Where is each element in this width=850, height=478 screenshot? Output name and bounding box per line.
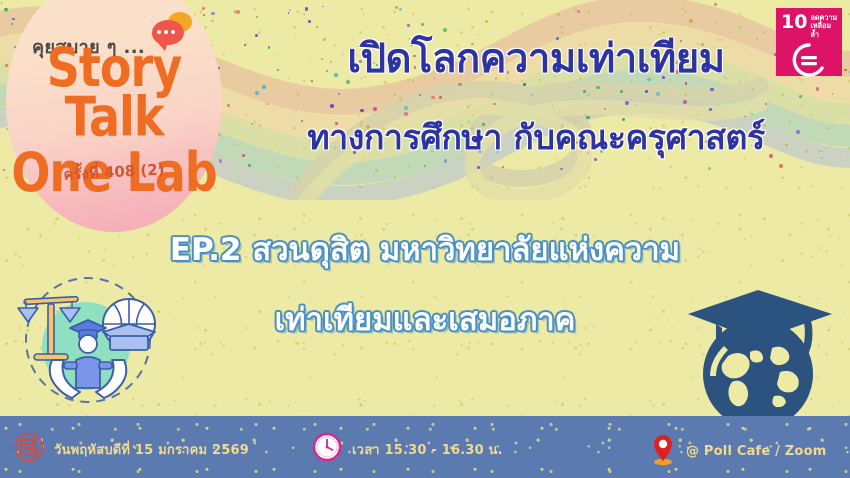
location-pin-icon: [650, 432, 676, 471]
footer-item-date: วันพฤหัสบดีที่ 15 มกราคม 2569: [14, 432, 249, 467]
globe-graduation-cap-illustration: [654, 278, 850, 418]
footer-time-text: เวลา 15.30 - 16.30 น.: [352, 439, 503, 460]
scales-hands-globe-graduation-illustration: [4, 274, 172, 422]
poster-canvas: คุยสบาย ๆ ... Story Talk One Lab ครั้งที…: [0, 0, 850, 478]
footer-date-text: วันพฤหัสบดีที่ 15 มกราคม 2569: [54, 439, 249, 460]
headline-line2: ทางการศึกษา กับคณะครุศาสตร์: [236, 110, 836, 164]
subheadline-line1: EP.2 สวนดุสิต มหาวิทยาลัยแห่งความ: [60, 224, 790, 274]
footer-item-time: เวลา 15.30 - 16.30 น.: [312, 432, 503, 467]
brand-name-line1: Story Talk: [6, 42, 222, 142]
brand-logo-group: คุยสบาย ๆ ... Story Talk One Lab ครั้งที…: [6, 0, 222, 232]
calendar-icon: [14, 432, 44, 467]
clock-icon: [312, 432, 342, 467]
footer-bar: วันพฤหัสบดีที่ 15 มกราคม 2569 เวลา 15.30…: [0, 416, 850, 478]
footer-location-text: @ Poll Cafe / Zoom: [686, 444, 826, 459]
headline-line1: เปิดโลกความเท่าเทียม: [236, 26, 836, 90]
footer-item-location: @ Poll Cafe / Zoom: [650, 432, 826, 471]
